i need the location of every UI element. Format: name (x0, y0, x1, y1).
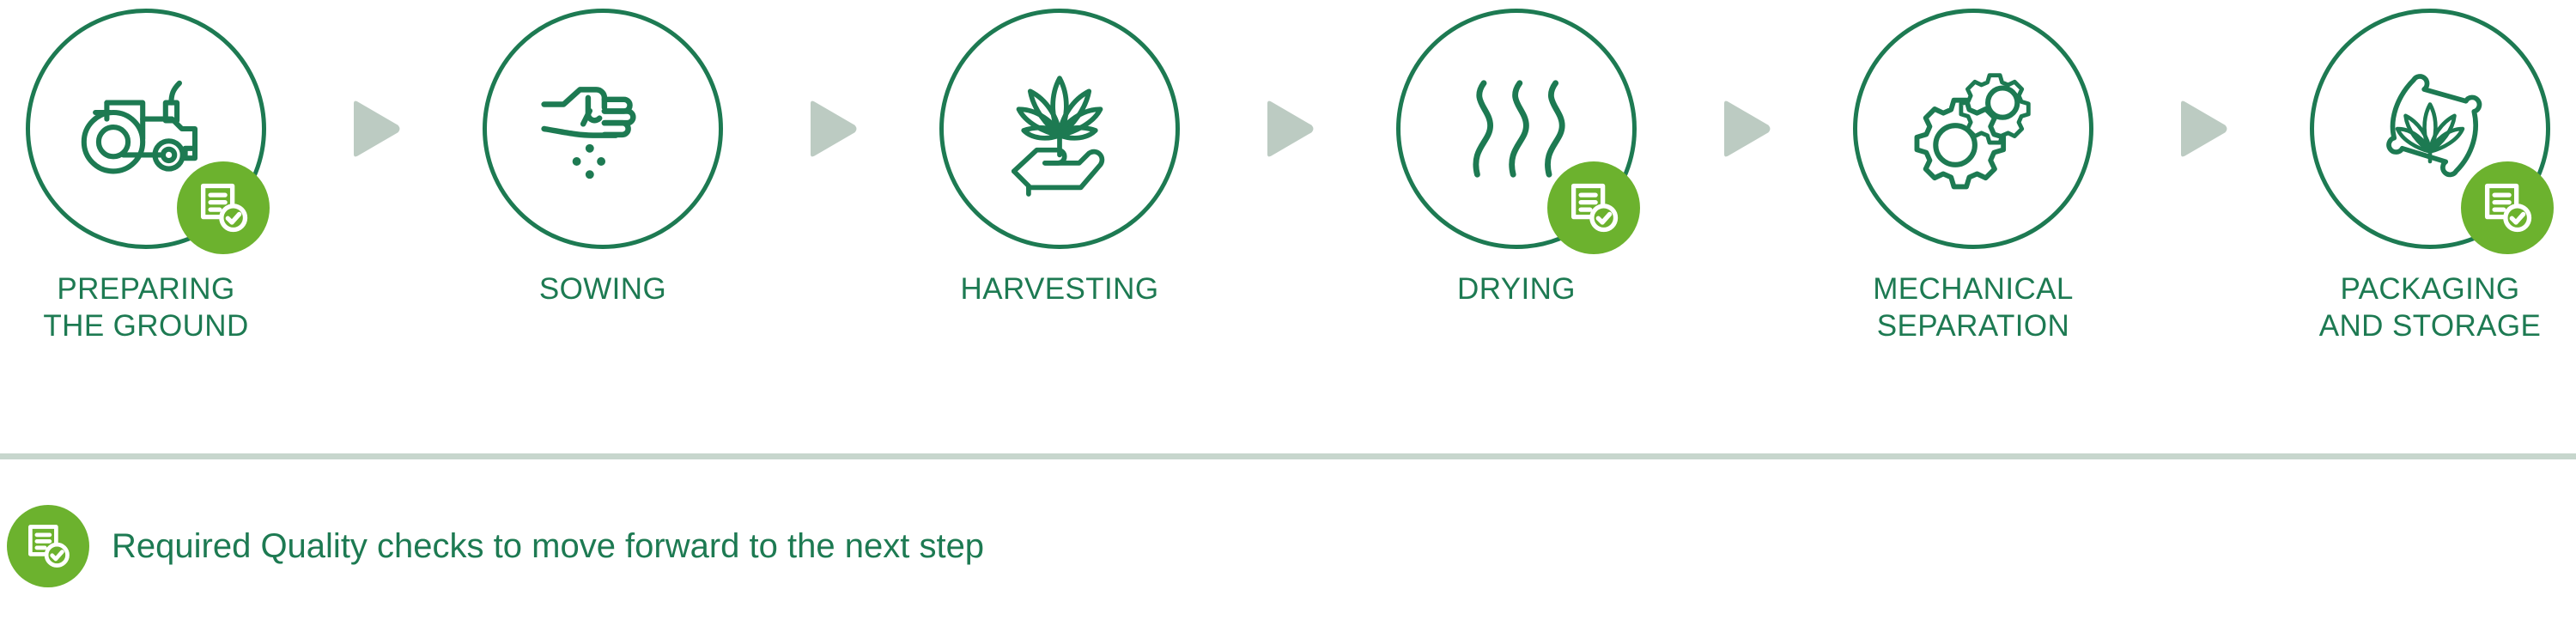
step-label: SOWING (539, 271, 666, 308)
step-label: PREPARING THE GROUND (43, 271, 248, 344)
gears-icon (1892, 47, 2055, 210)
process-flow-diagram: PREPARING THE GROUND (0, 0, 2576, 457)
legend-label: Required Quality checks to move forward … (112, 527, 984, 565)
step-label: MECHANICAL SEPARATION (1873, 271, 2073, 344)
step-label: DRYING (1457, 271, 1576, 308)
section-divider (0, 453, 2576, 459)
process-step-drying[interactable]: DRYING (1370, 0, 1662, 308)
quality-check-badge (2461, 161, 2554, 254)
legend: Required Quality checks to move forward … (7, 505, 984, 587)
quality-check-document-icon (7, 505, 89, 587)
step-icon-circle (2301, 0, 2559, 258)
triangle-right-arrow-icon (337, 0, 411, 258)
step-label: HARVESTING (961, 271, 1159, 308)
process-step-preparing-the-ground[interactable]: PREPARING THE GROUND (0, 0, 292, 344)
triangle-right-arrow-icon (1708, 0, 1782, 258)
step-icon-circle (17, 0, 275, 258)
triangle-right-arrow-icon (1251, 0, 1325, 258)
step-icon-circle (931, 0, 1188, 258)
quality-check-badge (1547, 161, 1640, 254)
process-step-mechanical-separation[interactable]: MECHANICAL SEPARATION (1827, 0, 2119, 344)
step-label: PACKAGING AND STORAGE (2319, 271, 2542, 344)
hand-sowing-seeds-icon (521, 47, 684, 210)
step-icon-circle (1844, 0, 2102, 258)
process-step-packaging-and-storage[interactable]: PACKAGING AND STORAGE (2284, 0, 2576, 344)
hand-holding-hemp-leaf-icon (978, 47, 1141, 210)
process-step-sowing[interactable]: SOWING (457, 0, 749, 308)
quality-check-badge (177, 161, 270, 254)
triangle-right-arrow-icon (794, 0, 868, 258)
step-icon-circle (474, 0, 732, 258)
triangle-right-arrow-icon (2165, 0, 2239, 258)
process-step-harvesting[interactable]: HARVESTING (914, 0, 1206, 308)
step-icon-circle (1388, 0, 1645, 258)
